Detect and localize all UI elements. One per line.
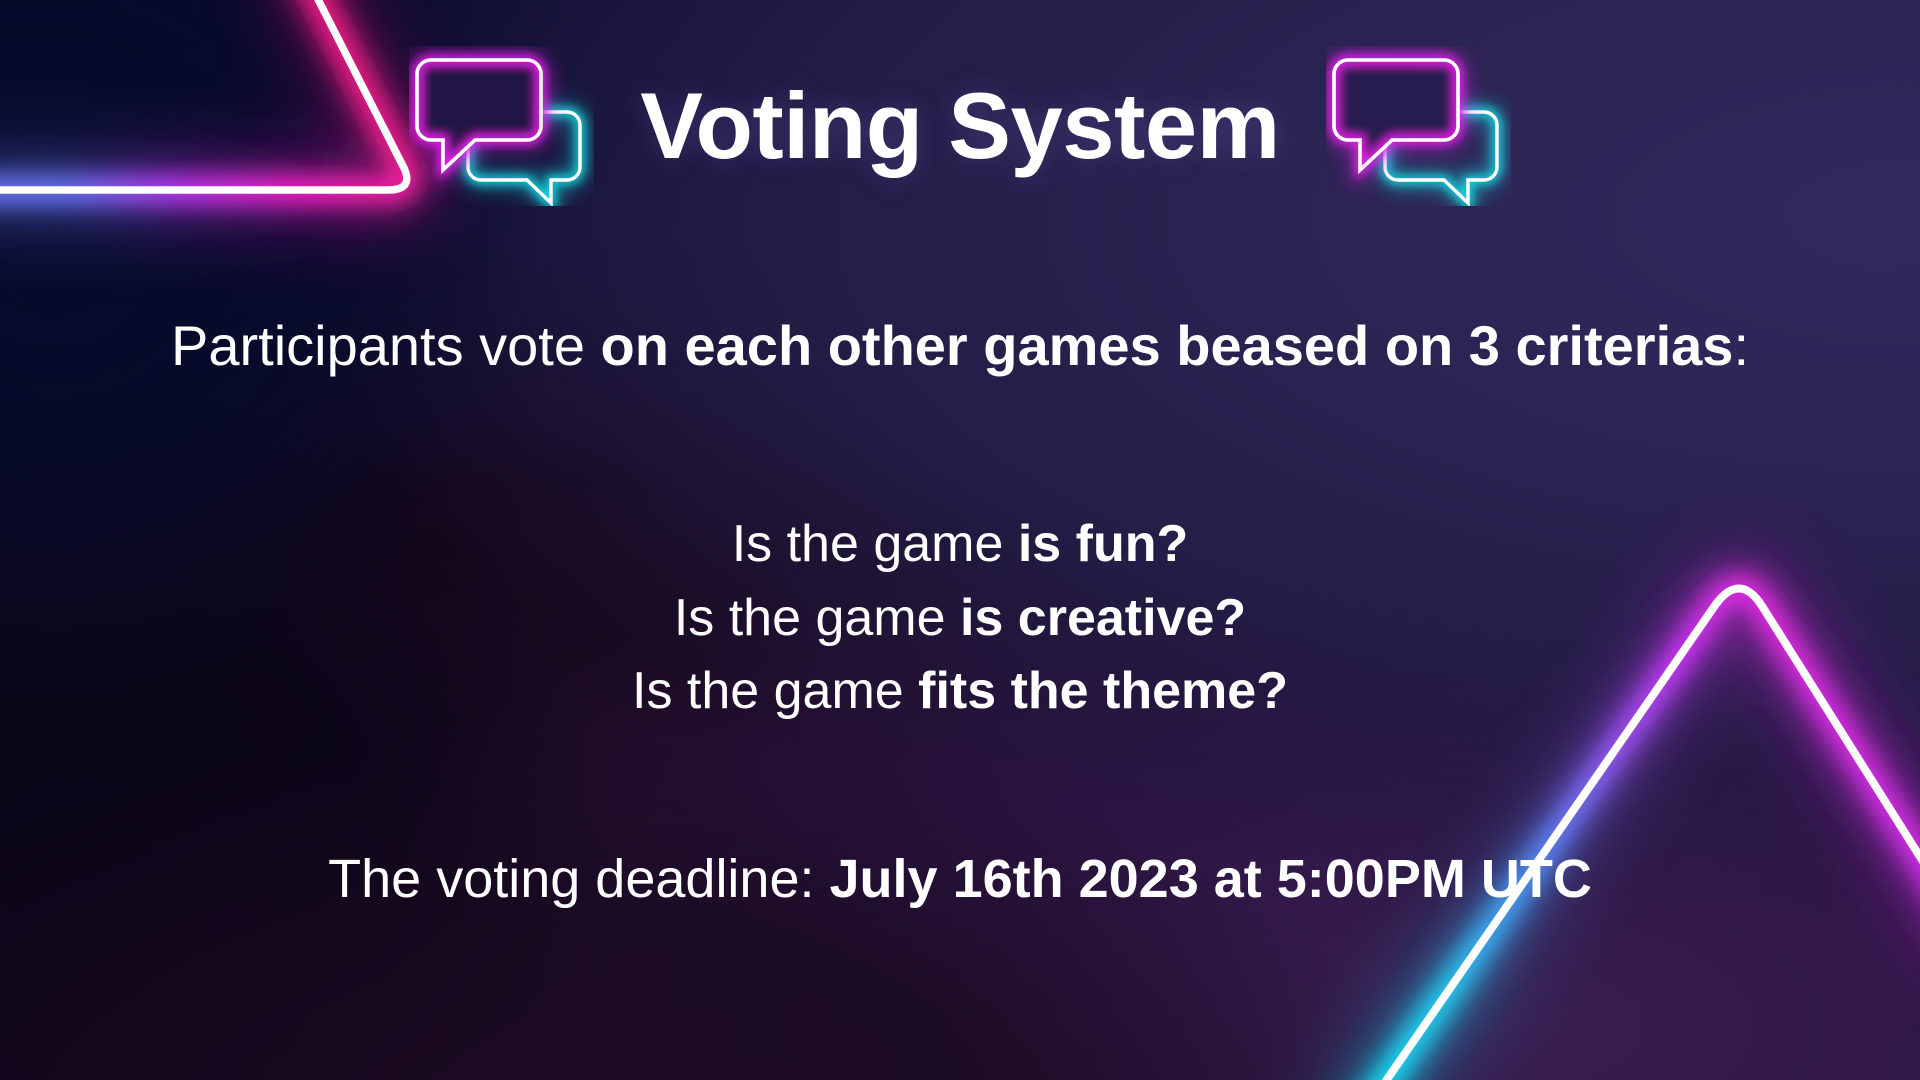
slide-voting-system: Voting System Participants vote on each …	[0, 0, 1920, 1080]
criteria-regular-text: Is the game	[674, 589, 960, 647]
criteria-bold-text: is creative?	[960, 589, 1246, 647]
page-title: Voting System	[640, 79, 1279, 173]
intro-paragraph: Participants vote on each other games be…	[110, 310, 1810, 382]
deadline-value: July 16th 2023 at 5:00PM UTC	[830, 849, 1592, 909]
intro-bold-text: on each other games beased on 3 criteria…	[601, 314, 1734, 377]
criteria-item: Is the game is creative?	[110, 582, 1810, 656]
chat-bubbles-icon	[409, 46, 594, 206]
intro-colon: :	[1733, 314, 1749, 377]
page-title-wrap: Voting System	[640, 79, 1279, 173]
criteria-item: Is the game is fun?	[110, 508, 1810, 582]
intro-regular-text: Participants vote	[171, 314, 601, 377]
criteria-item: Is the game fits the theme?	[110, 655, 1810, 729]
criteria-regular-text: Is the game	[732, 515, 1018, 573]
header: Voting System	[0, 46, 1920, 206]
chat-bubble-magenta	[417, 60, 541, 170]
criteria-regular-text: Is the game	[632, 662, 918, 720]
criteria-list: Is the game is fun? Is the game is creat…	[110, 508, 1810, 729]
deadline-label: The voting deadline:	[328, 849, 829, 909]
deadline-line: The voting deadline: July 16th 2023 at 5…	[110, 847, 1810, 912]
criteria-bold-text: fits the theme?	[918, 662, 1288, 720]
chat-bubble-magenta	[1334, 60, 1458, 170]
chat-bubbles-icon	[1326, 46, 1511, 206]
slide-body: Participants vote on each other games be…	[110, 310, 1810, 966]
criteria-bold-text: is fun?	[1018, 515, 1188, 573]
